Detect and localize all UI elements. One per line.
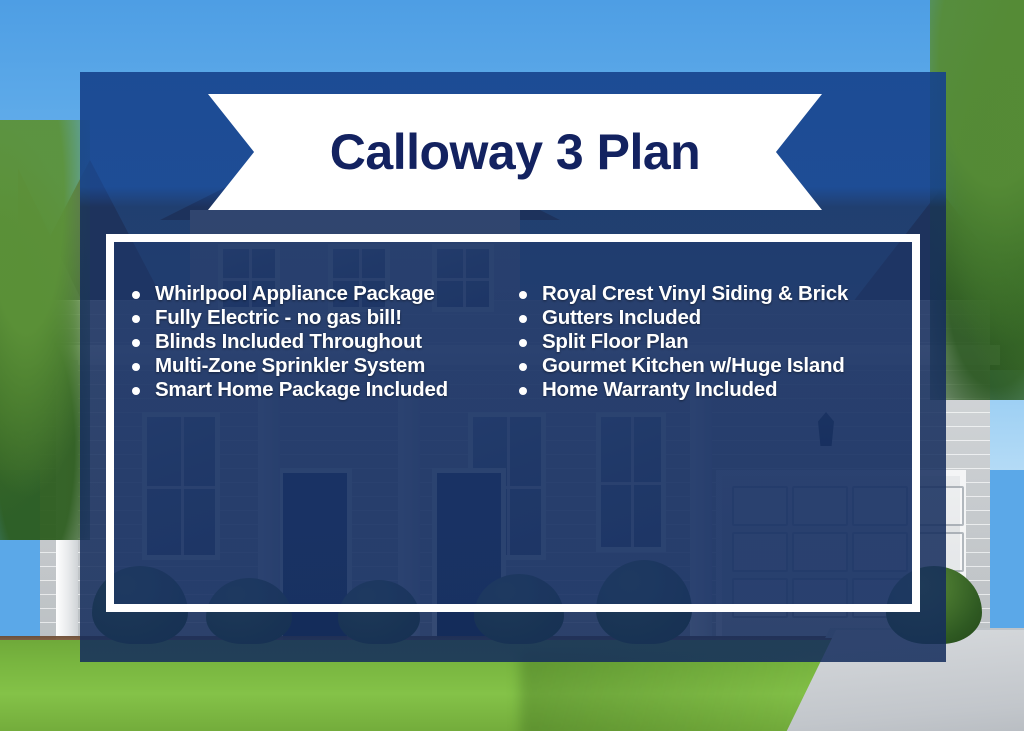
list-item: Gourmet Kitchen w/Huge Island [511, 354, 898, 378]
tree-left [0, 120, 90, 540]
feature-column-right: Royal Crest Vinyl Siding & Brick Gutters… [511, 282, 898, 402]
list-item: Split Floor Plan [511, 330, 898, 354]
feature-grid: Whirlpool Appliance Package Fully Electr… [114, 242, 912, 604]
bullet-icon [519, 315, 527, 323]
list-item: Royal Crest Vinyl Siding & Brick [511, 282, 898, 306]
list-item: Blinds Included Throughout [124, 330, 511, 354]
bullet-icon [132, 387, 140, 395]
feature-label: Blinds Included Throughout [155, 330, 422, 354]
feature-label: Split Floor Plan [542, 330, 688, 354]
bullet-icon [519, 387, 527, 395]
bullet-icon [132, 291, 140, 299]
feature-label: Gourmet Kitchen w/Huge Island [542, 354, 845, 378]
bullet-icon [519, 363, 527, 371]
list-item: Gutters Included [511, 306, 898, 330]
feature-label: Multi-Zone Sprinkler System [155, 354, 425, 378]
feature-label: Home Warranty Included [542, 378, 777, 402]
feature-label: Fully Electric - no gas bill! [155, 306, 402, 330]
list-item: Home Warranty Included [511, 378, 898, 402]
bullet-icon [519, 291, 527, 299]
bullet-icon [132, 339, 140, 347]
feature-label: Smart Home Package Included [155, 378, 448, 402]
page-title: Calloway 3 Plan [330, 123, 700, 181]
feature-label: Gutters Included [542, 306, 701, 330]
list-item: Fully Electric - no gas bill! [124, 306, 511, 330]
bullet-icon [132, 363, 140, 371]
feature-column-left: Whirlpool Appliance Package Fully Electr… [124, 282, 511, 402]
feature-label: Whirlpool Appliance Package [155, 282, 435, 306]
feature-list-frame: Whirlpool Appliance Package Fully Electr… [106, 234, 920, 612]
list-item: Whirlpool Appliance Package [124, 282, 511, 306]
bullet-icon [519, 339, 527, 347]
list-item: Smart Home Package Included [124, 378, 511, 402]
marketing-flyer: Calloway 3 Plan Whirlpool Appliance Pack… [0, 0, 1024, 731]
title-banner: Calloway 3 Plan [208, 94, 822, 210]
feature-label: Royal Crest Vinyl Siding & Brick [542, 282, 848, 306]
bullet-icon [132, 315, 140, 323]
list-item: Multi-Zone Sprinkler System [124, 354, 511, 378]
